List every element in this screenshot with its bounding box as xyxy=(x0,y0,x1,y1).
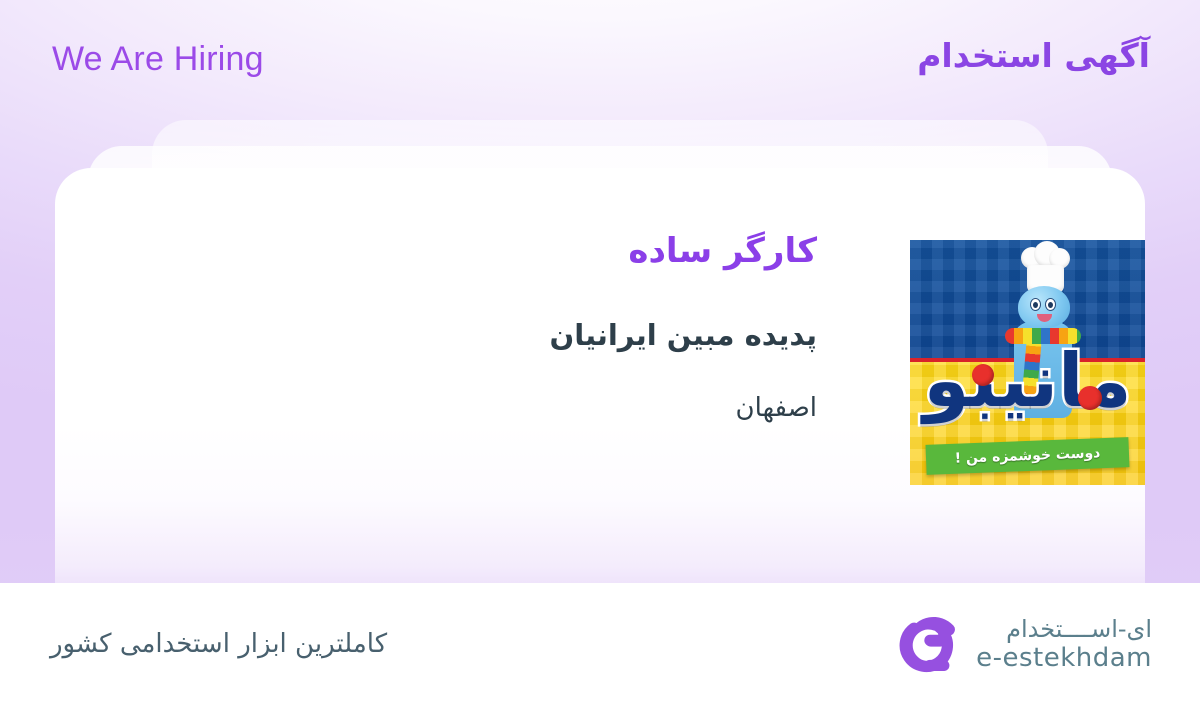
job-location: اصفهان xyxy=(55,392,817,426)
logo-dot-1 xyxy=(972,364,994,386)
company-name: پدیده مبین ایرانیان xyxy=(55,317,817,355)
site-brand[interactable]: ای-اســــتخدام e-estekhdam xyxy=(890,611,1152,677)
brand-name-english: e-estekhdam xyxy=(976,643,1152,674)
employer-logo-wrapper: مانیبو دوست خوشمزه من ! xyxy=(910,168,1145,485)
footer-tagline: کاملترین ابزار استخدامی کشور xyxy=(50,629,387,659)
mascot-head-icon xyxy=(1018,286,1070,328)
brand-text: ای-اســــتخدام e-estekhdam xyxy=(976,615,1152,674)
employer-logo: مانیبو دوست خوشمزه من ! xyxy=(910,240,1145,485)
poster-header: We Are Hiring آگهی استخدام xyxy=(0,0,1200,128)
e-estekhdam-logo-icon xyxy=(890,611,956,677)
logo-slogan-text: دوست خوشمزه من ! xyxy=(954,445,1100,467)
header-english-label: We Are Hiring xyxy=(52,40,264,79)
logo-wordmark: مانیبو xyxy=(918,336,1137,426)
logo-dot-2 xyxy=(1078,386,1102,410)
brand-name-persian: ای-اســــتخدام xyxy=(976,615,1152,643)
job-card[interactable]: کارگر ساده پدیده مبین ایرانیان اصفهان xyxy=(55,168,1145,583)
job-details: کارگر ساده پدیده مبین ایرانیان اصفهان xyxy=(55,168,862,426)
job-title: کارگر ساده xyxy=(55,230,817,273)
poster-footer: کاملترین ابزار استخدامی کشور ای-اســــتخ… xyxy=(0,583,1200,705)
header-persian-label: آگهی استخدام xyxy=(917,36,1150,75)
